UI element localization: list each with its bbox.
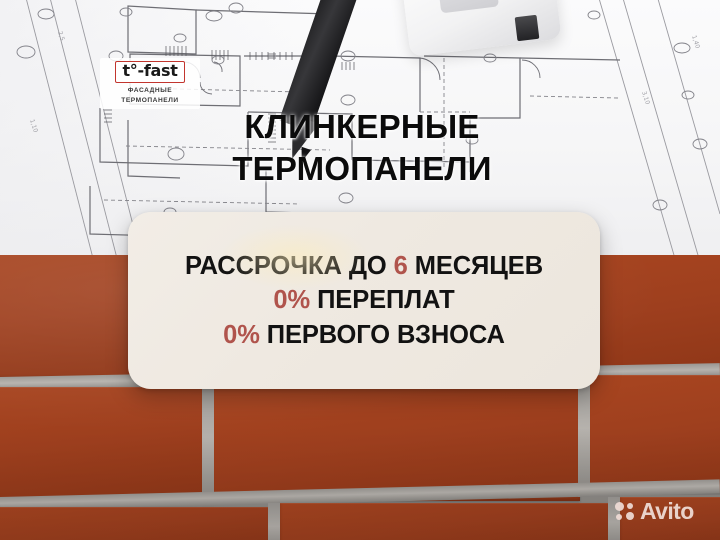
svg-text:1,10: 1,10 [28, 118, 39, 133]
offer-card: РАССРОЧКА ДО 6 МЕСЯЦЕВ 0% ПЕРЕПЛАТ 0% ПЕ… [128, 212, 600, 389]
headline-line-1: КЛИНКЕРНЫЕ [140, 106, 584, 148]
avito-dots-icon [615, 502, 635, 522]
brick [588, 375, 720, 493]
logo-subtitle: ФАСАДНЫЕ ТЕРМОПАНЕЛИ [104, 86, 196, 105]
brand-logo: t°-fast ФАСАДНЫЕ ТЕРМОПАНЕЛИ [100, 58, 200, 109]
brick [280, 503, 610, 540]
logo-wordmark: t°-fast [122, 61, 177, 80]
offer-line-1-prefix: РАССРОЧКА ДО [185, 252, 394, 280]
offer-line-1: РАССРОЧКА ДО 6 МЕСЯЦЕВ [185, 249, 543, 283]
offer-line-3-accent: 0% [223, 321, 260, 349]
brick [0, 507, 270, 540]
offer-line-3-suffix: ПЕРВОГО ВЗНОСА [260, 321, 505, 349]
headline-line-2: ТЕРМОПАНЕЛИ [140, 148, 584, 190]
avito-wordmark: Avito [640, 500, 694, 523]
banner-canvas: 2,5 1,10 3,10 1,40 [0, 0, 720, 540]
svg-text:1,40: 1,40 [690, 34, 701, 49]
offer-line-3: 0% ПЕРВОГО ВЗНОСА [223, 318, 505, 352]
headline: КЛИНКЕРНЫЕ ТЕРМОПАНЕЛИ [140, 106, 584, 190]
logo-box: t°-fast [115, 61, 184, 83]
offer-line-1-accent: 6 [394, 252, 408, 280]
offer-line-1-suffix: МЕСЯЦЕВ [408, 252, 543, 280]
brick [0, 387, 204, 503]
mortar-joint [202, 381, 214, 507]
offer-line-2-suffix: ПЕРЕПЛАТ [310, 286, 454, 314]
mortar-joint [578, 373, 590, 497]
offer-line-2-accent: 0% [273, 286, 310, 314]
logo-subtitle-line2: ТЕРМОПАНЕЛИ [104, 96, 196, 106]
mortar-joint [268, 503, 280, 540]
svg-text:3,10: 3,10 [640, 90, 651, 105]
avito-watermark: Avito [615, 500, 694, 523]
svg-text:2,5: 2,5 [56, 30, 66, 41]
tape-measure-lip [515, 15, 540, 42]
logo-subtitle-line1: ФАСАДНЫЕ [104, 86, 196, 96]
offer-line-2: 0% ПЕРЕПЛАТ [273, 283, 454, 317]
